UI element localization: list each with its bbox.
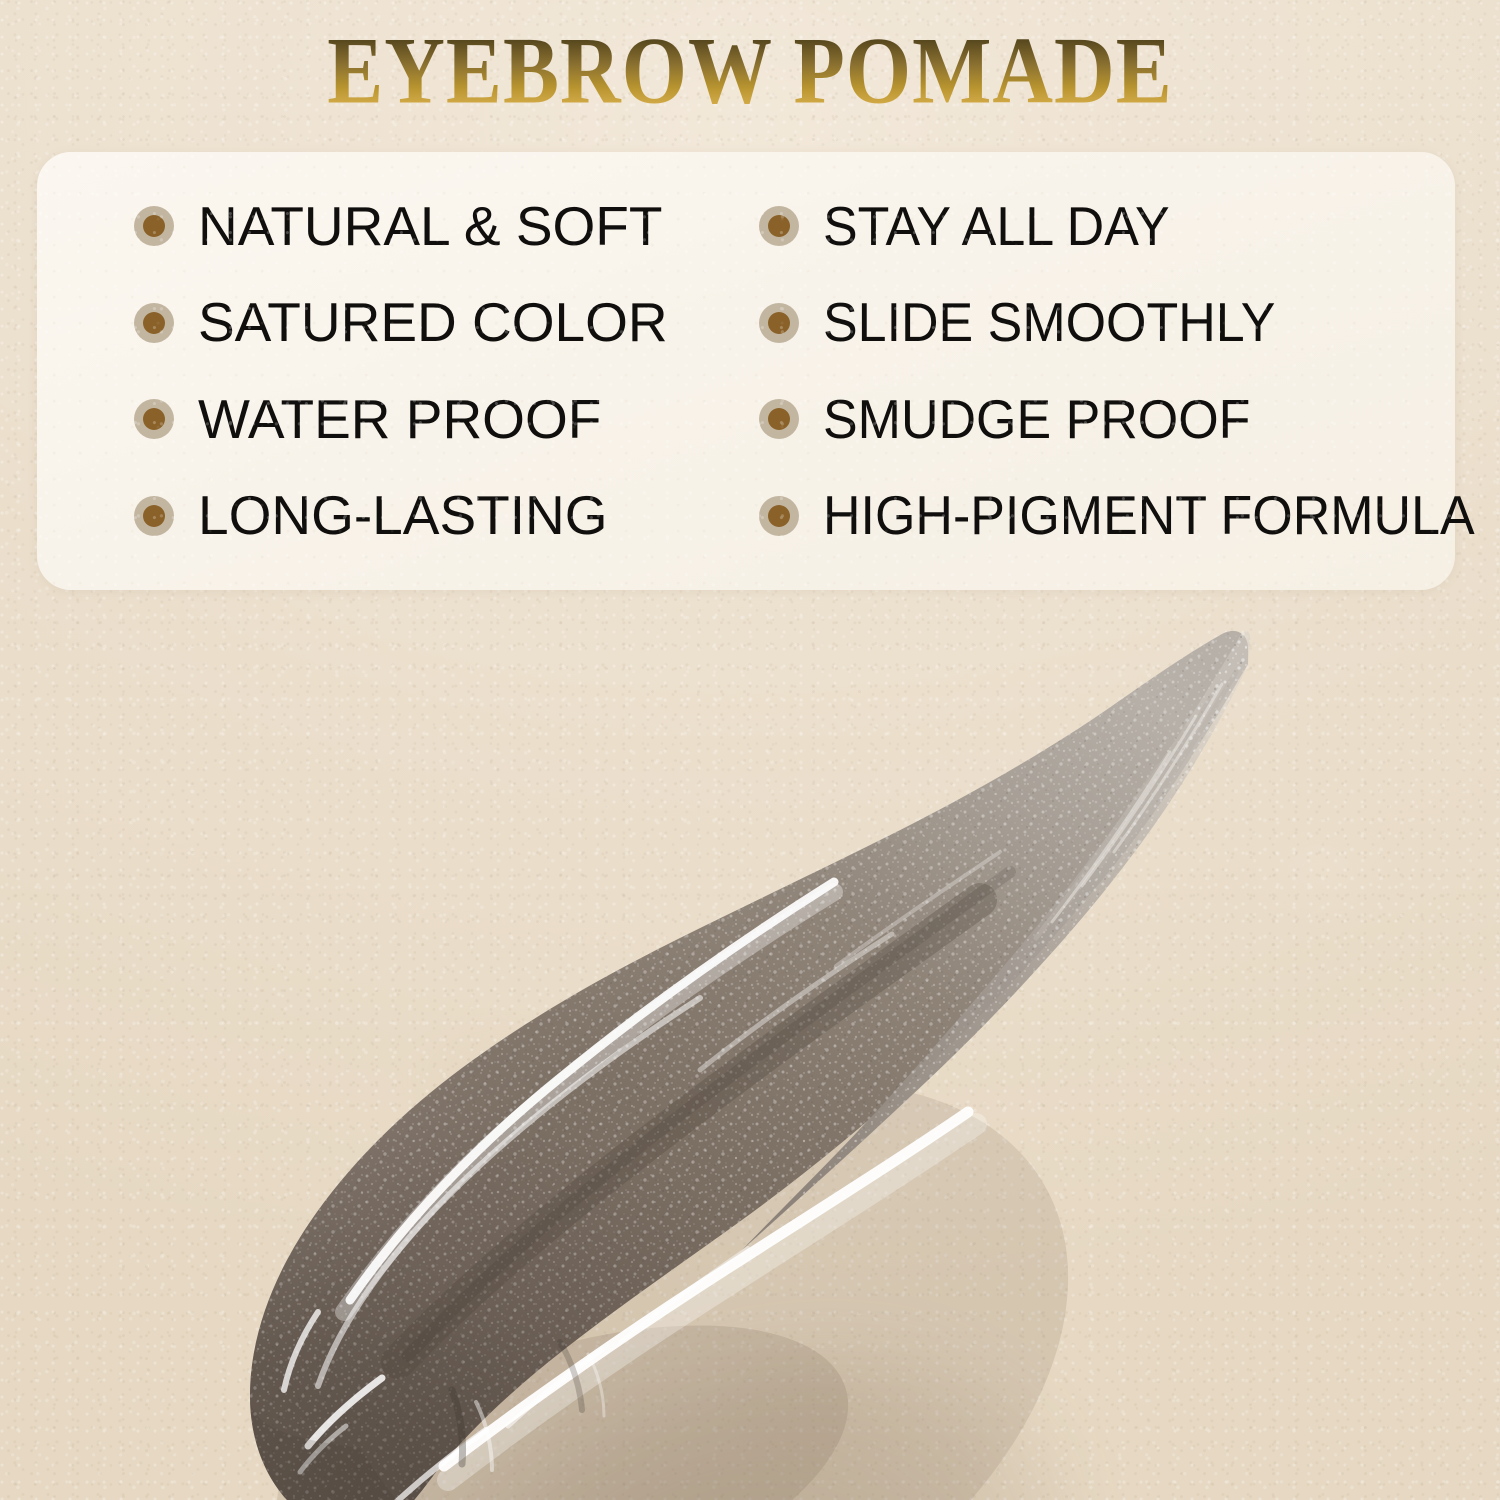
page-title: EYEBROW POMADE [0,24,1500,120]
bullet-dot-icon [759,303,799,343]
feature-label: WATER PROOF [198,392,601,447]
bullet-dot-icon [759,206,799,246]
feature-list-card: NATURAL & SOFT STAY ALL DAY SATURED COLO… [37,152,1455,590]
feature-item-long-lasting: LONG-LASTING [37,468,725,565]
feature-label: SATURED COLOR [198,295,668,350]
feature-label: SLIDE SMOOTHLY [823,295,1275,350]
feature-item-satured-color: SATURED COLOR [37,275,725,372]
feature-item-natural-soft: NATURAL & SOFT [37,178,725,275]
feature-item-high-pigment-formula: HIGH-PIGMENT FORMULA [725,468,1500,565]
product-feature-image: EYEBROW POMADE NATURAL & SOFT STAY ALL D… [0,0,1500,1500]
bullet-dot-icon [759,399,799,439]
feature-label: STAY ALL DAY [823,199,1170,254]
bullet-dot-icon [134,496,174,536]
bullet-dot-icon [134,399,174,439]
pomade-smear-illustration [0,600,1500,1500]
feature-item-stay-all-day: STAY ALL DAY [725,178,1500,275]
feature-item-water-proof: WATER PROOF [37,371,725,468]
feature-item-smudge-proof: SMUDGE PROOF [725,371,1500,468]
feature-label: LONG-LASTING [198,488,608,543]
bullet-dot-icon [759,496,799,536]
product-swatch [0,600,1500,1500]
feature-label: HIGH-PIGMENT FORMULA [823,488,1475,543]
bullet-dot-icon [134,303,174,343]
feature-label: SMUDGE PROOF [823,392,1250,447]
feature-label: NATURAL & SOFT [198,199,663,254]
bullet-dot-icon [134,206,174,246]
feature-item-slide-smoothly: SLIDE SMOOTHLY [725,275,1500,372]
feature-grid: NATURAL & SOFT STAY ALL DAY SATURED COLO… [37,152,1455,590]
